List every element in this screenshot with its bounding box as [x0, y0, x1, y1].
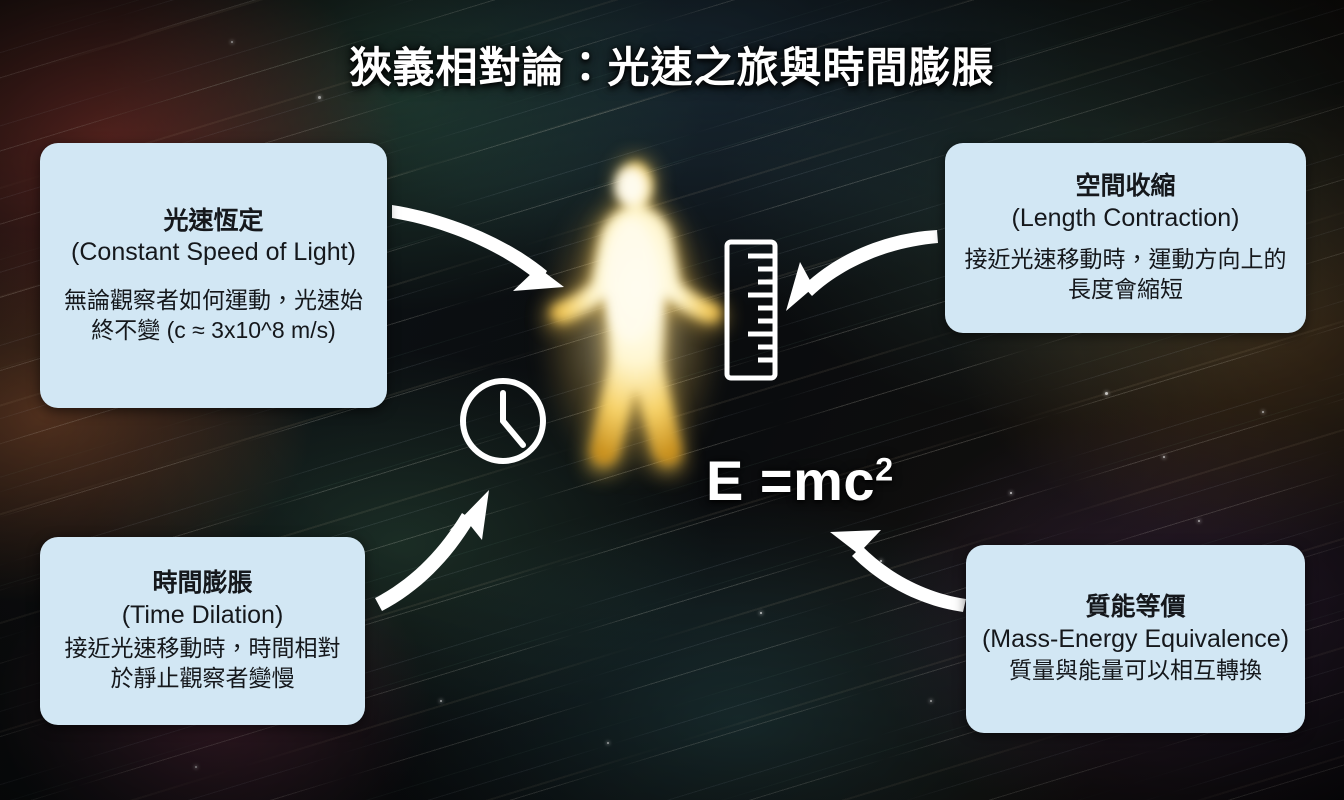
card-description: 接近光速移動時，運動方向上的長度會縮短 — [959, 245, 1292, 305]
mass-energy-formula: E =mc2 — [706, 448, 894, 513]
card-title: 空間收縮 — [1075, 171, 1175, 202]
card-title: 光速恆定 — [163, 206, 263, 237]
card-title: 質能等價 — [1085, 592, 1185, 623]
card-title: 時間膨脹 — [152, 568, 252, 599]
ruler-icon — [722, 237, 780, 383]
card-constant-speed-of-light[interactable]: 光速恆定 (Constant Speed of Light) 無論觀察者如何運動… — [40, 143, 387, 408]
formula-exponent: 2 — [875, 451, 894, 487]
card-title-en: (Length Contraction) — [1012, 203, 1240, 234]
card-length-contraction[interactable]: 空間收縮 (Length Contraction) 接近光速移動時，運動方向上的… — [945, 143, 1306, 333]
card-title-en: (Time Dilation) — [122, 600, 284, 631]
card-title-en: (Constant Speed of Light) — [71, 237, 356, 268]
page-title: 狹義相對論：光速之旅與時間膨脹 — [0, 34, 1344, 95]
clock-icon — [455, 373, 551, 469]
card-description: 無論觀察者如何運動，光速始終不變 (c ≈ 3x10^8 m/s) — [54, 286, 373, 346]
card-title-en: (Mass-Energy Equivalence) — [982, 624, 1289, 655]
card-mass-energy-equivalence[interactable]: 質能等價 (Mass-Energy Equivalence) 質量與能量可以相互… — [966, 545, 1305, 733]
formula-base: E =mc — [706, 449, 875, 512]
infographic-canvas: E =mc2 狹義相對論：光速之旅與 — [0, 0, 1344, 800]
card-time-dilation[interactable]: 時間膨脹 (Time Dilation) 接近光速移動時，時間相對於靜止觀察者變… — [40, 537, 365, 725]
card-description: 質量與能量可以相互轉換 — [1009, 656, 1262, 686]
card-description: 接近光速移動時，時間相對於靜止觀察者變慢 — [54, 634, 351, 694]
